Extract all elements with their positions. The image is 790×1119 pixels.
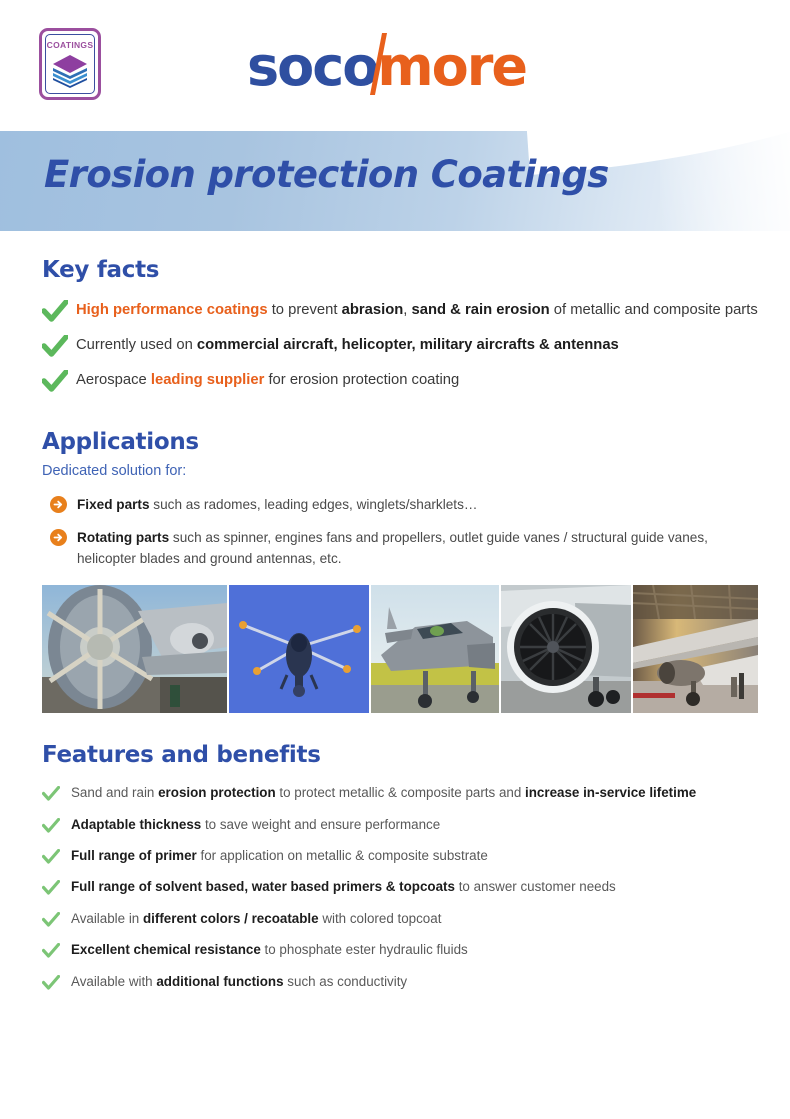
key-fact-item: Aerospace leading supplier for erosion p… <box>42 369 760 392</box>
page-header: COATINGS socomore <box>0 0 790 131</box>
check-icon <box>42 818 60 833</box>
application-photo-strip <box>42 585 754 713</box>
feature-4-bold-1: different colors / recoatable <box>143 911 319 926</box>
key-facts-heading: Key facts <box>42 257 760 283</box>
key-fact-0-highlight-0: High performance coatings <box>76 302 268 318</box>
feature-item: Full range of solvent based, water based… <box>42 878 760 895</box>
feature-0-bold-1: erosion protection <box>158 785 276 800</box>
feature-item: Available in different colors / recoatab… <box>42 910 760 927</box>
check-icon <box>42 818 71 833</box>
title-banner: Erosion protection Coatings <box>0 131 790 231</box>
feature-0-text-0: Sand and rain <box>71 785 158 800</box>
check-icon <box>42 912 60 927</box>
helicopter-photo <box>229 585 369 713</box>
check-icon <box>42 335 68 357</box>
key-fact-item: Currently used on commercial aircraft, h… <box>42 334 760 357</box>
check-icon <box>42 786 71 801</box>
check-icon <box>42 943 71 958</box>
logo-text-more: more <box>377 35 526 98</box>
key-facts-list: High performance coatings to prevent abr… <box>42 299 760 392</box>
key-fact-2-text-0: Aerospace <box>76 372 151 388</box>
feature-2-bold-0: Full range of primer <box>71 848 197 863</box>
socomore-logo: socomore <box>247 40 526 94</box>
feature-1-bold-0: Adaptable thickness <box>71 817 201 832</box>
check-icon <box>42 300 68 322</box>
check-icon <box>42 370 76 392</box>
key-fact-0-text-3: , <box>403 302 411 318</box>
applications-heading: Applications <box>42 429 760 455</box>
application-0-bold-0: Fixed parts <box>77 497 150 512</box>
check-icon <box>42 786 60 801</box>
feature-item: Available with additional functions such… <box>42 973 760 990</box>
application-item: Fixed parts such as radomes, leading edg… <box>50 494 760 515</box>
arrow-circle-right-icon <box>50 496 77 513</box>
jet-engine-photo <box>501 585 631 713</box>
arrow-circle-right-icon <box>50 496 67 513</box>
section-features-benefits: Features and benefits Sand and rain eros… <box>42 742 760 990</box>
key-fact-0-bold-2: abrasion <box>342 302 404 318</box>
feature-item: Full range of primer for application on … <box>42 847 760 864</box>
coatings-badge-inner: COATINGS <box>45 34 95 94</box>
check-icon <box>42 975 71 990</box>
application-0-text-1: such as radomes, leading edges, winglets… <box>150 497 478 512</box>
feature-text: Full range of primer for application on … <box>71 847 488 864</box>
application-item: Rotating parts such as spinner, engines … <box>50 527 760 569</box>
check-icon <box>42 943 60 958</box>
applications-list: Fixed parts such as radomes, leading edg… <box>50 494 760 569</box>
feature-5-bold-0: Excellent chemical resistance <box>71 942 261 957</box>
key-fact-1-bold-1: commercial aircraft, helicopter, militar… <box>197 337 619 353</box>
features-heading: Features and benefits <box>42 742 760 768</box>
key-fact-text: High performance coatings to prevent abr… <box>76 299 758 320</box>
feature-item: Adaptable thickness to save weight and e… <box>42 816 760 833</box>
coatings-badge: COATINGS <box>39 28 101 100</box>
application-1-text-1: such as spinner, engines fans and propel… <box>77 530 708 566</box>
page-title: Erosion protection Coatings <box>44 153 609 196</box>
page-content: Key facts High performance coatings to p… <box>0 257 790 990</box>
applications-subtitle: Dedicated solution for: <box>42 463 760 479</box>
coatings-badge-label: COATINGS <box>47 40 94 50</box>
key-fact-0-text-5: of metallic and composite parts <box>550 302 758 318</box>
key-fact-text: Currently used on commercial aircraft, h… <box>76 334 619 355</box>
application-text: Fixed parts such as radomes, leading edg… <box>77 494 477 515</box>
section-applications: Applications Dedicated solution for: Fix… <box>42 429 760 713</box>
key-fact-item: High performance coatings to prevent abr… <box>42 299 760 322</box>
application-text: Rotating parts such as spinner, engines … <box>77 527 760 569</box>
feature-item: Sand and rain erosion protection to prot… <box>42 784 760 801</box>
check-icon <box>42 335 76 357</box>
aircraft-hangar-photo <box>633 585 758 713</box>
feature-item: Excellent chemical resistance to phospha… <box>42 941 760 958</box>
key-fact-text: Aerospace leading supplier for erosion p… <box>76 369 459 390</box>
feature-2-text-1: for application on metallic & composite … <box>197 848 488 863</box>
key-fact-0-text-1: to prevent <box>268 302 342 318</box>
application-1-bold-0: Rotating parts <box>77 530 169 545</box>
feature-text: Adaptable thickness to save weight and e… <box>71 816 440 833</box>
section-key-facts: Key facts High performance coatings to p… <box>42 257 760 392</box>
check-icon <box>42 849 60 864</box>
check-icon <box>42 880 71 895</box>
feature-4-text-2: with colored topcoat <box>319 911 442 926</box>
features-list: Sand and rain erosion protection to prot… <box>42 784 760 990</box>
arrow-circle-right-icon <box>50 529 77 546</box>
check-icon <box>42 370 68 392</box>
layer-stack-icon <box>50 53 90 89</box>
propeller-spinner-photo <box>42 585 227 713</box>
feature-4-text-0: Available in <box>71 911 143 926</box>
key-fact-1-text-0: Currently used on <box>76 337 197 353</box>
check-icon <box>42 300 76 322</box>
feature-0-text-2: to protect metallic & composite parts an… <box>276 785 525 800</box>
feature-0-bold-3: increase in-service lifetime <box>525 785 696 800</box>
feature-6-bold-1: additional functions <box>156 974 283 989</box>
key-fact-2-text-2: for erosion protection coating <box>264 372 459 388</box>
banner-highlight-decoration <box>660 131 790 231</box>
feature-3-bold-0: Full range of solvent based, water based… <box>71 879 455 894</box>
feature-text: Available in different colors / recoatab… <box>71 910 441 927</box>
check-icon <box>42 880 60 895</box>
feature-3-text-1: to answer customer needs <box>455 879 616 894</box>
logo-text-soco: soco <box>247 35 377 98</box>
feature-6-text-0: Available with <box>71 974 156 989</box>
fighter-jet-photo <box>371 585 499 713</box>
key-fact-2-highlight-1: leading supplier <box>151 372 264 388</box>
check-icon <box>42 849 71 864</box>
key-fact-0-bold-4: sand & rain erosion <box>412 302 550 318</box>
feature-text: Available with additional functions such… <box>71 973 407 990</box>
check-icon <box>42 975 60 990</box>
check-icon <box>42 912 71 927</box>
feature-1-text-1: to save weight and ensure performance <box>201 817 440 832</box>
arrow-circle-right-icon <box>50 529 67 546</box>
feature-text: Sand and rain erosion protection to prot… <box>71 784 696 801</box>
feature-5-text-1: to phosphate ester hydraulic fluids <box>261 942 468 957</box>
feature-text: Excellent chemical resistance to phospha… <box>71 941 468 958</box>
feature-6-text-2: such as conductivity <box>284 974 408 989</box>
feature-text: Full range of solvent based, water based… <box>71 878 616 895</box>
